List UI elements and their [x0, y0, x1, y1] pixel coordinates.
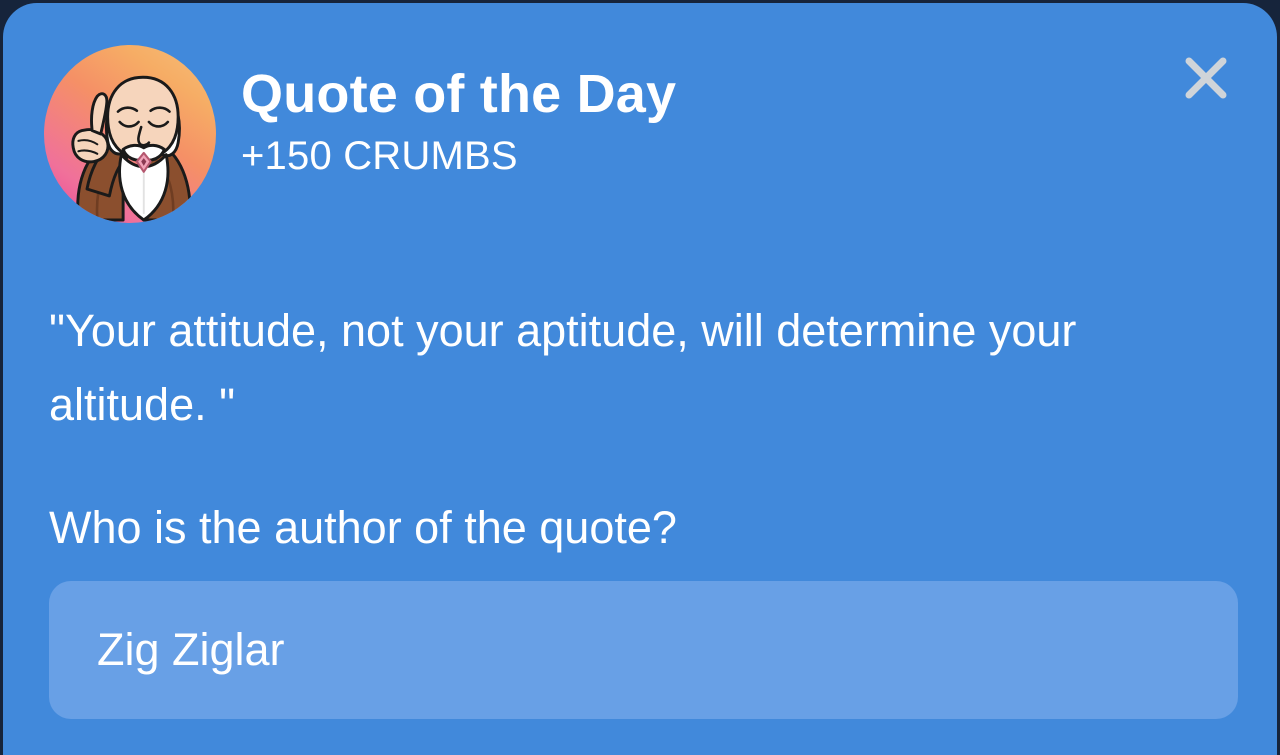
sage-avatar-icon: [44, 45, 216, 223]
question-text: Who is the author of the quote?: [49, 501, 1214, 555]
modal-body: "Your attitude, not your aptitude, will …: [3, 233, 1277, 755]
modal-header: Quote of the Day +150 CRUMBS: [3, 3, 1277, 233]
reward-badge: +150 CRUMBS: [241, 133, 1127, 179]
page-title: Quote of the Day: [241, 63, 1127, 127]
header-text-block: Quote of the Day +150 CRUMBS: [241, 63, 1127, 179]
close-icon: [1177, 49, 1235, 107]
avatar: [44, 45, 216, 223]
answer-input[interactable]: [49, 581, 1238, 719]
close-button[interactable]: [1177, 49, 1235, 107]
quote-of-the-day-modal: Quote of the Day +150 CRUMBS "Your attit…: [3, 3, 1277, 755]
quote-text: "Your attitude, not your aptitude, will …: [49, 294, 1214, 443]
